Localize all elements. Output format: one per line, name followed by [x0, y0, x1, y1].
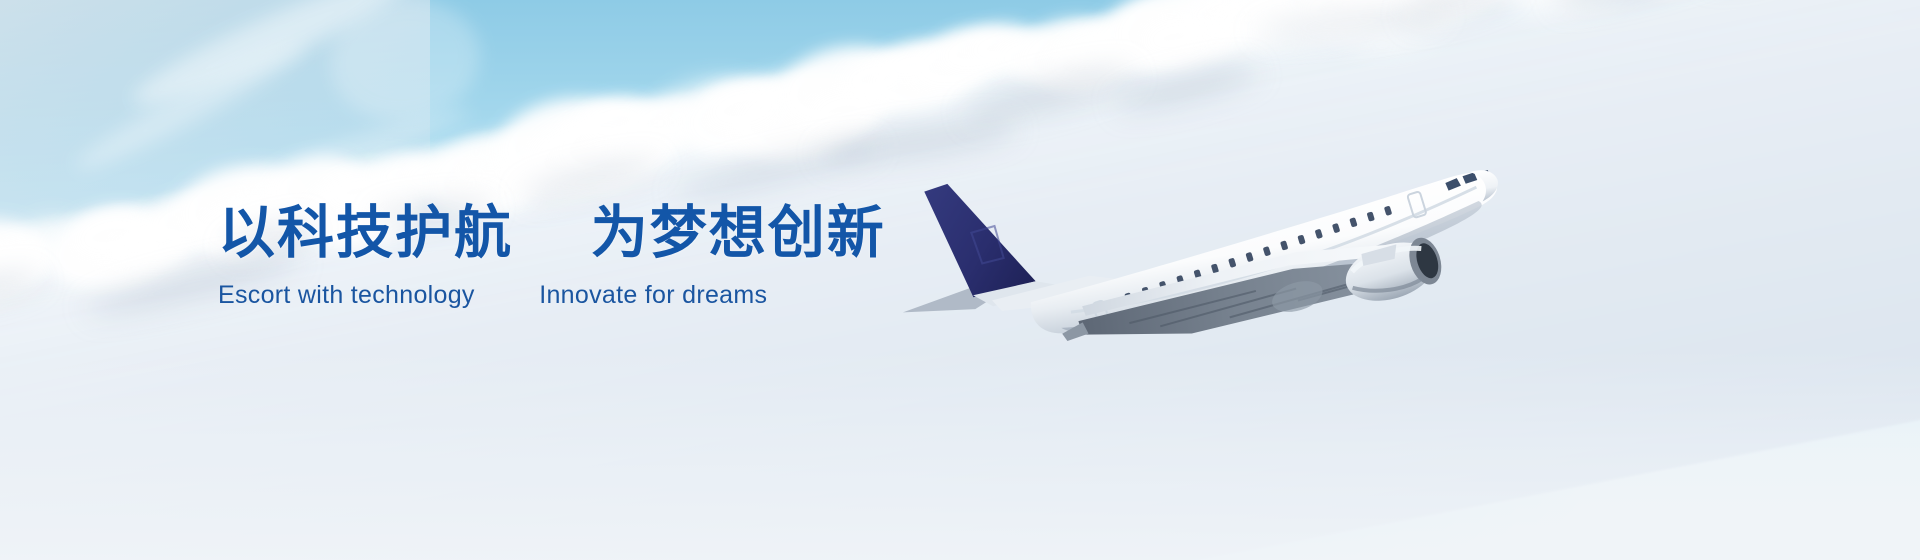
headline-phrase-2: 为梦想创新: [591, 200, 886, 266]
subtitle-phrase-1: Escort with technology: [218, 281, 475, 309]
banner-copy: 以科技护航 为梦想创新 Escort with technology Innov…: [218, 205, 858, 310]
bottom-fog: [0, 350, 1920, 560]
page-subtitle: Escort with technology Innovate for drea…: [218, 282, 858, 310]
airplane-body: [884, 99, 1514, 381]
tail-fin: [924, 173, 1037, 303]
hero-banner: 以科技护航 为梦想创新 Escort with technology Innov…: [0, 0, 1920, 560]
headline-phrase-1: 以科技护航: [218, 200, 513, 266]
subtitle-phrase-2: Innovate for dreams: [539, 281, 767, 309]
airplane-illustration: [820, 120, 1520, 350]
page-title: 以科技护航 为梦想创新: [218, 205, 858, 262]
